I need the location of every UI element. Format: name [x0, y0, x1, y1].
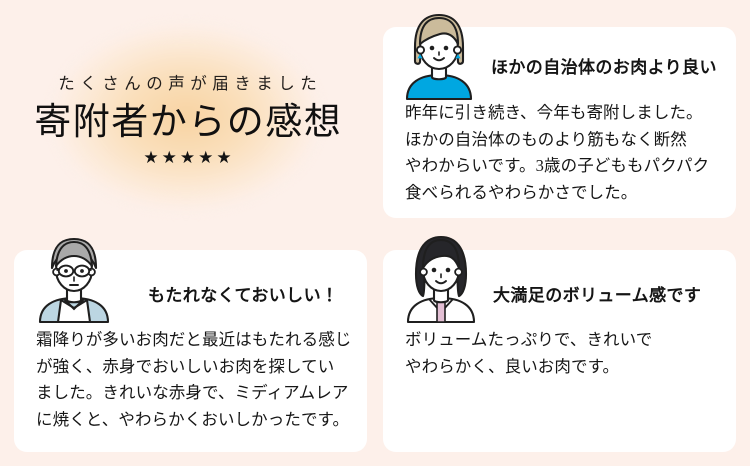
page-title: 寄附者からの感想: [33, 102, 343, 145]
testimonial-title: もたれなくておいしい！: [148, 286, 338, 306]
testimonial-line: ほかの自治体のものより筋もなく断然: [405, 127, 720, 154]
rating-stars: ★★★★★: [140, 149, 234, 166]
testimonial-title: ほかの自治体のお肉より良い: [491, 58, 717, 78]
testimonial-card: 大満足のボリューム感です ボリュームたっぷりで、きれいで やわらかく、良いお肉で…: [383, 250, 736, 452]
testimonial-line: やわらかく、良いお肉です。: [405, 354, 720, 381]
testimonial-line: ました。きれいな赤身で、ミディアムレア: [36, 380, 351, 407]
testimonial-line: が強く、赤身でおいしいお肉を探してい: [36, 354, 351, 381]
testimonial-title: 大満足のボリューム感です: [493, 286, 701, 306]
testimonial-line: ボリュームたっぷりで、きれいで: [405, 327, 720, 354]
testimonial-body: ボリュームたっぷりで、きれいで やわらかく、良いお肉です。: [405, 327, 720, 380]
testimonial-card: ほかの自治体のお肉より良い 昨年に引き続き、今年も寄附しました。 ほかの自治体の…: [383, 27, 736, 218]
testimonial-card: もたれなくておいしい！ 霜降りが多いお肉だと最近はもたれる感じ が強く、赤身でお…: [14, 250, 367, 452]
testimonial-section: たくさんの声が届きました 寄附者からの感想 ★★★★★: [0, 0, 750, 466]
testimonial-card-header: 大満足のボリューム感です: [383, 250, 736, 320]
testimonial-line: に焼くと、やわらかくおいしかったです。: [36, 407, 351, 434]
avatar-senior-man-glasses-icon: [28, 230, 120, 322]
avatar-woman-long-dark-hair-icon: [395, 230, 487, 322]
testimonial-body: 霜降りが多いお肉だと最近はもたれる感じ が強く、赤身でおいしいお肉を探してい ま…: [36, 327, 351, 434]
testimonial-body: 昨年に引き続き、今年も寄附しました。 ほかの自治体のものより筋もなく断然 やわか…: [405, 100, 720, 207]
testimonial-line: 食べられるやわらかさでした。: [405, 180, 720, 207]
testimonial-line: やわからいです。3歳の子どももパクパク: [405, 153, 720, 180]
testimonial-card-header: もたれなくておいしい！: [14, 250, 367, 320]
avatar-woman-short-hair-icon: [393, 7, 485, 99]
testimonial-line: 昨年に引き続き、今年も寄附しました。: [405, 100, 720, 127]
testimonial-line: 霜降りが多いお肉だと最近はもたれる感じ: [36, 327, 351, 354]
section-header: たくさんの声が届きました 寄附者からの感想 ★★★★★: [0, 0, 375, 233]
section-eyebrow: たくさんの声が届きました: [53, 75, 323, 93]
testimonial-card-header: ほかの自治体のお肉より良い: [383, 27, 736, 97]
